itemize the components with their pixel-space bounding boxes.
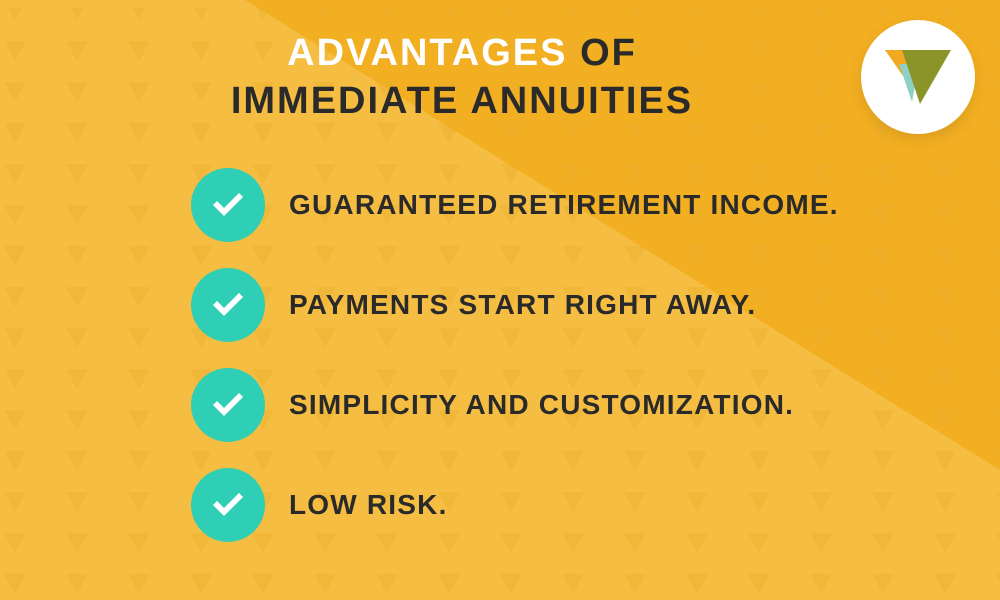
list-item-label: SIMPLICITY AND CUSTOMIZATION. [289,389,794,421]
check-icon [208,185,248,225]
check-badge [191,468,265,542]
check-badge [191,168,265,242]
check-icon [208,385,248,425]
check-badge [191,368,265,442]
list-item[interactable]: PAYMENTS START RIGHT AWAY. [191,268,971,342]
list-item[interactable]: SIMPLICITY AND CUSTOMIZATION. [191,368,971,442]
list-item[interactable]: LOW RISK. [191,468,971,542]
infographic-canvas: ADVANTAGES OF IMMEDIATE ANNUITIES GUARAN… [0,0,1000,600]
list-item-label: PAYMENTS START RIGHT AWAY. [289,289,756,321]
list-item[interactable]: GUARANTEED RETIREMENT INCOME. [191,168,971,242]
list-item-label: LOW RISK. [289,489,448,521]
check-icon [208,285,248,325]
advantages-list: GUARANTEED RETIREMENT INCOME. PAYMENTS S… [0,0,1000,600]
check-badge [191,268,265,342]
list-item-label: GUARANTEED RETIREMENT INCOME. [289,189,839,221]
check-icon [208,485,248,525]
